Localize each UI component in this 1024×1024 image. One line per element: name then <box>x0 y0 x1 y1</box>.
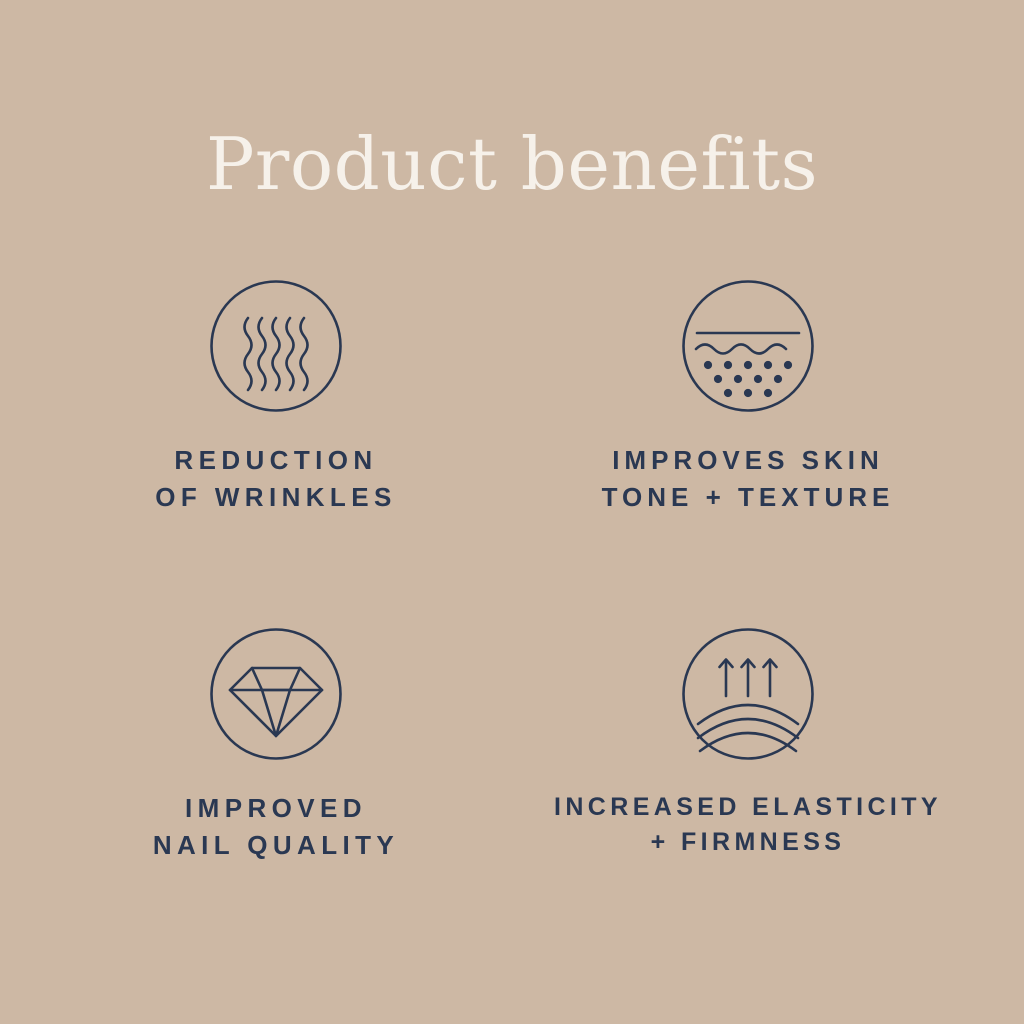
benefit-item-improved-nail-quality: IMPROVED NAIL QUALITY <box>40 626 512 864</box>
benefits-grid: REDUCTION OF WRINKLES <box>40 278 984 864</box>
diamond-icon <box>208 626 344 762</box>
page-title: Product benefits <box>0 128 1024 200</box>
up-arrows-arcs-icon <box>680 626 816 762</box>
benefit-item-improves-skin-tone-texture: IMPROVES SKIN TONE + TEXTURE <box>512 278 984 516</box>
benefit-label: IMPROVES SKIN TONE + TEXTURE <box>602 442 895 516</box>
product-benefits-poster: Product benefits REDUCTION OF WRINKLES <box>0 0 1024 1024</box>
benefit-item-reduction-of-wrinkles: REDUCTION OF WRINKLES <box>40 278 512 516</box>
skin-layers-dots-icon <box>680 278 816 414</box>
benefit-item-increased-elasticity-firmness: INCREASED ELASTICITY + FIRMNESS <box>512 626 984 864</box>
benefit-label: INCREASED ELASTICITY + FIRMNESS <box>554 790 942 861</box>
benefit-label: REDUCTION OF WRINKLES <box>155 442 396 516</box>
benefit-label: IMPROVED NAIL QUALITY <box>153 790 399 864</box>
wavy-lines-icon <box>208 278 344 414</box>
